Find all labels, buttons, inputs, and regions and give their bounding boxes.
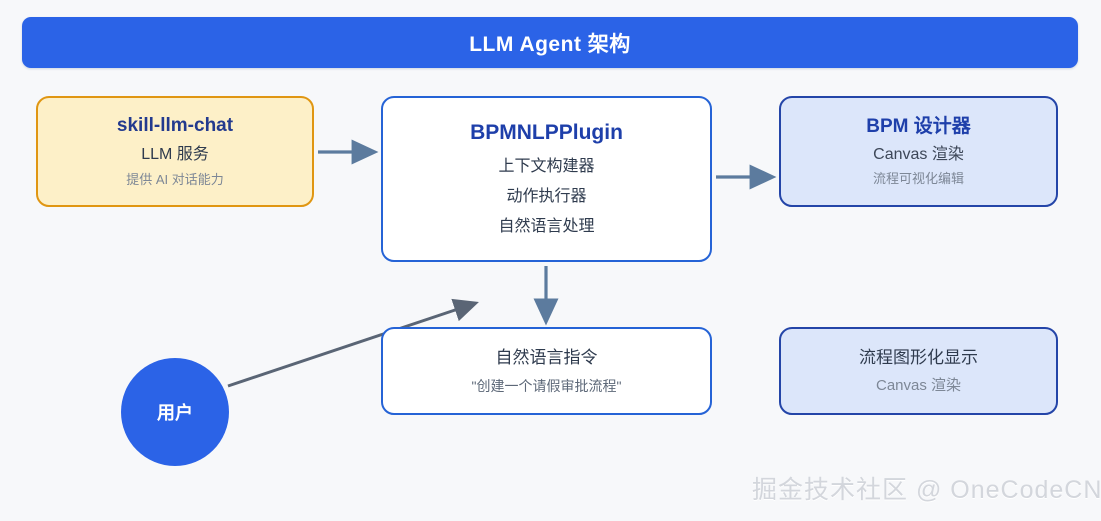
diagram-header: LLM Agent 架构: [22, 17, 1078, 68]
node-bpmnlpplugin[interactable]: BPMNLPPlugin 上下文构建器 动作执行器 自然语言处理: [381, 96, 712, 262]
node-natural-language-command[interactable]: 自然语言指令 "创建一个请假审批流程": [381, 327, 712, 415]
node-title: BPMNLPPlugin: [470, 120, 623, 146]
node-title: BPM 设计器: [866, 115, 971, 139]
node-user[interactable]: 用户: [121, 358, 229, 466]
node-feature-nlp: 自然语言处理: [498, 217, 594, 238]
node-subtitle: Canvas 渲染: [873, 145, 964, 166]
node-note: 流程可视化编辑: [873, 171, 964, 188]
node-subtitle: "创建一个请假审批流程": [472, 377, 622, 395]
page-title: LLM Agent 架构: [469, 28, 631, 58]
node-user-label: 用户: [157, 399, 193, 425]
node-subtitle: LLM 服务: [141, 145, 209, 166]
node-bpm-designer[interactable]: BPM 设计器 Canvas 渲染 流程可视化编辑: [779, 96, 1058, 207]
diagram-canvas: LLM Agent 架构 skill-llm-chat: [0, 0, 1101, 521]
node-title: 流程图形化显示: [859, 347, 978, 368]
node-title: 自然语言指令: [496, 347, 598, 368]
node-feature-context-builder: 上下文构建器: [498, 157, 594, 178]
node-flow-graphic-display[interactable]: 流程图形化显示 Canvas 渲染: [779, 327, 1058, 415]
node-subtitle: Canvas 渲染: [876, 376, 961, 396]
node-note: 提供 AI 对话能力: [126, 172, 224, 189]
watermark: 掘金技术社区 @ OneCodeCN: [752, 470, 1101, 506]
node-skill-llm-chat[interactable]: skill-llm-chat LLM 服务 提供 AI 对话能力: [36, 96, 314, 207]
node-feature-action-executor: 动作执行器: [506, 187, 586, 208]
node-title: skill-llm-chat: [117, 114, 233, 138]
